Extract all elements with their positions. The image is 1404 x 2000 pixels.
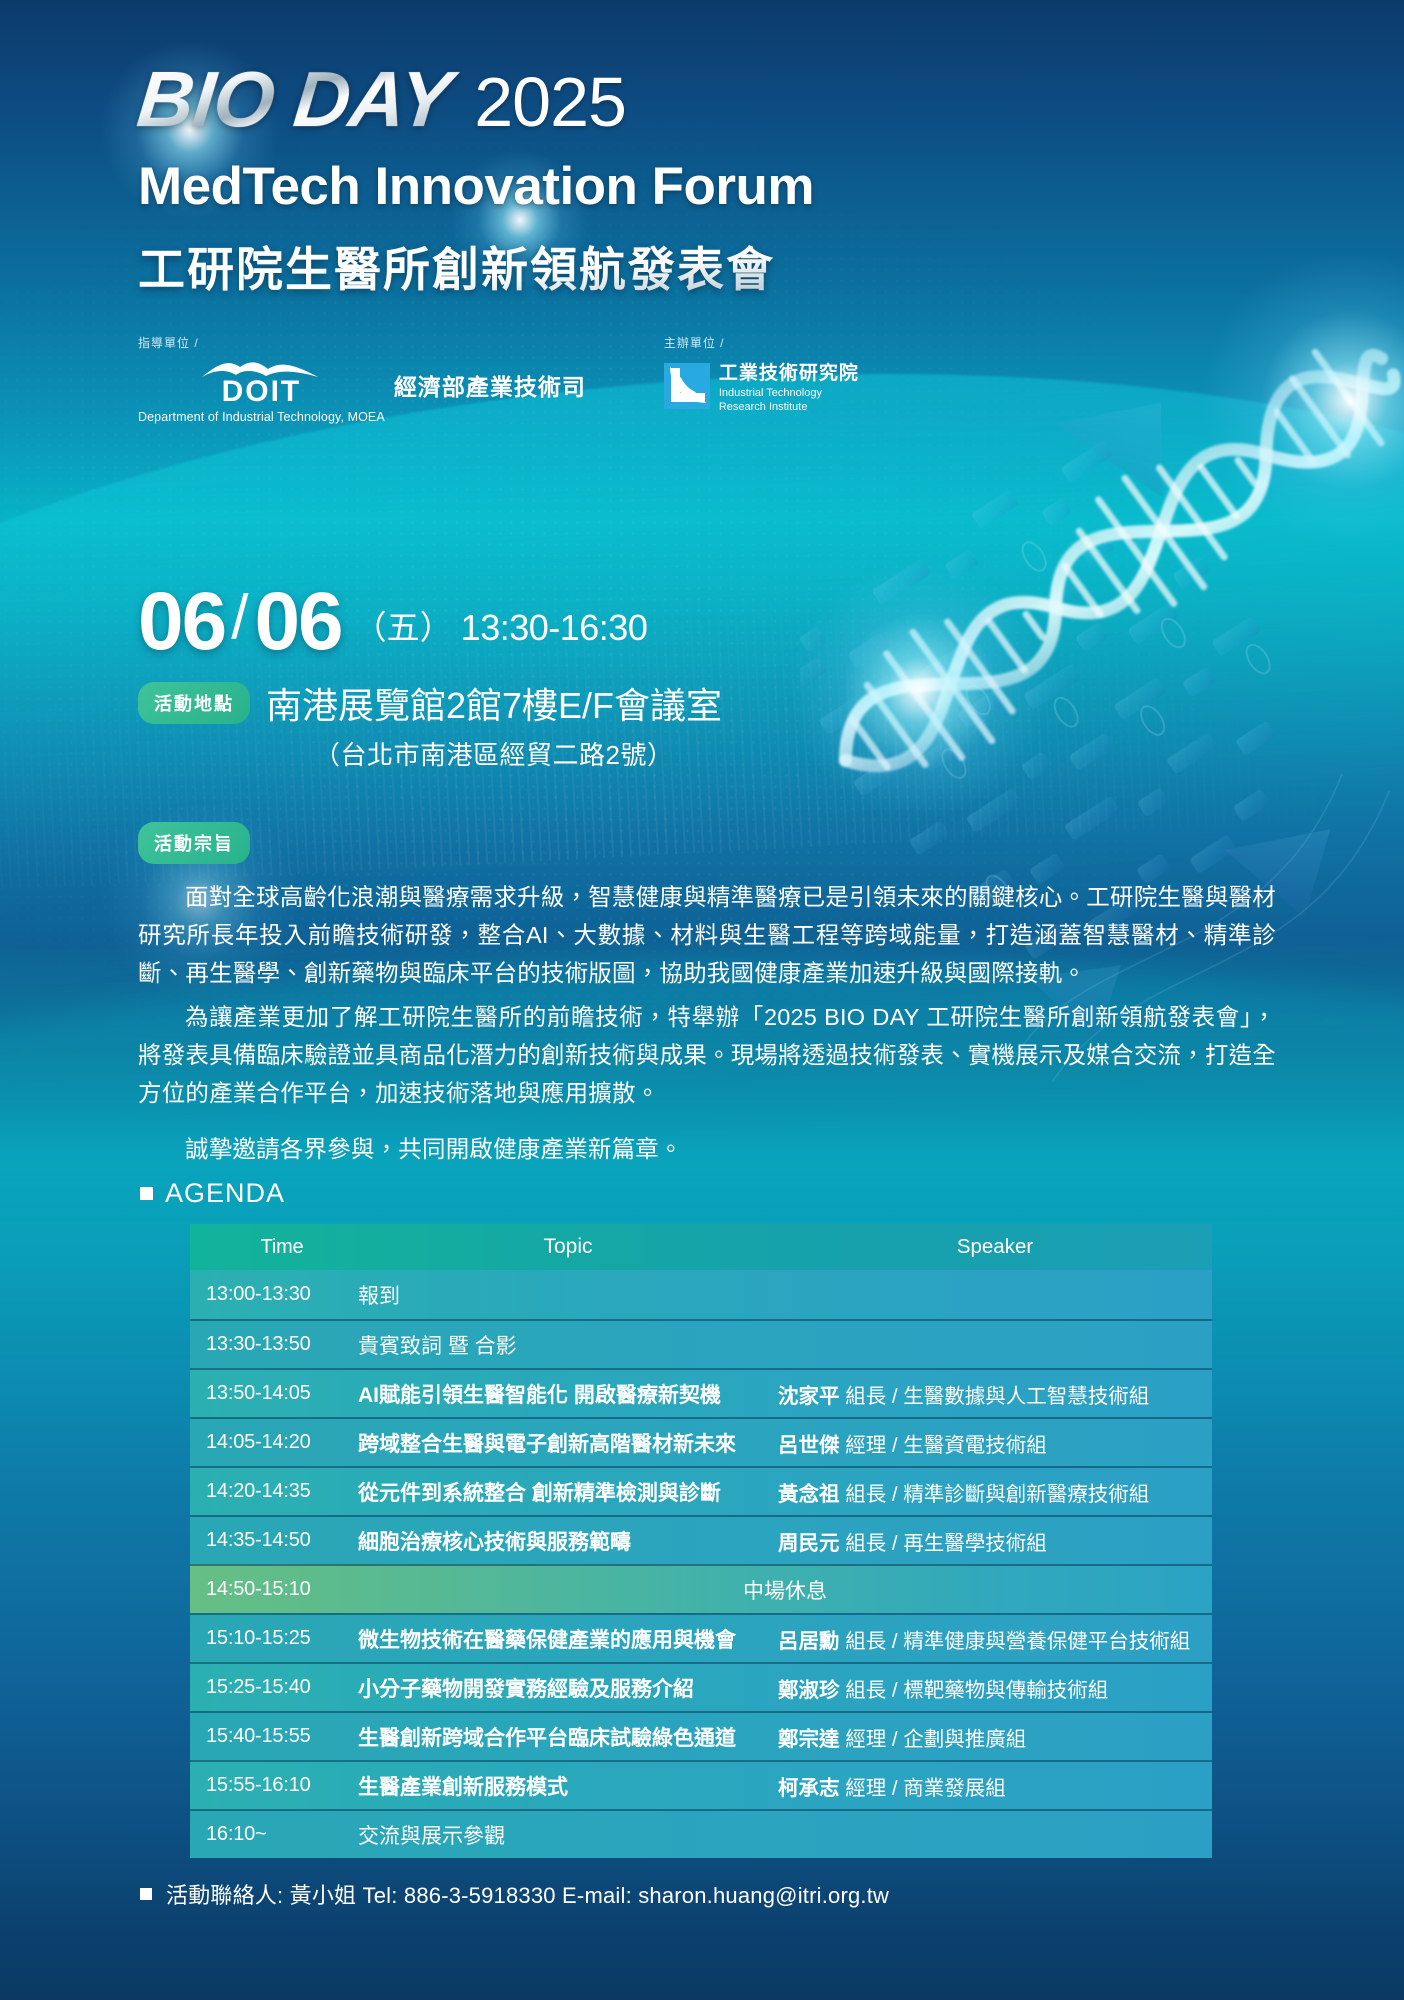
speaker-role: 經理 / 企劃與推廣組 [845,1728,1026,1751]
agenda-cell-topic: AI賦能引領生醫智能化 開啟醫療新契機 [358,1379,778,1409]
purpose-badge: 活動宗旨 [138,822,250,864]
purpose-paragraph-3: 誠摯邀請各界參與，共同開啟健康產業新篇章。 [138,1130,1276,1168]
itri-name-zh: 工業技術研究院 [719,358,859,385]
forum-title-en: MedTech Innovation Forum [138,156,1404,217]
speaker-role: 組長 / 標靶藥物與傳輸技術組 [845,1679,1108,1702]
agenda-cell-time: 15:25-15:40 [190,1676,358,1699]
column-header-speaker: Speaker [778,1235,1212,1259]
speaker-name: 呂世傑 [778,1434,845,1457]
guidance-unit-block: 指導單位 / DOIT Department of Industrial Tec… [138,334,586,424]
agenda-cell-speaker: 鄭淑珍 組長 / 標靶藥物與傳輸技術組 [778,1673,1212,1703]
agenda-table-header: Time Topic Speaker [190,1224,1212,1270]
speaker-role: 組長 / 生醫數據與人工智慧技術組 [845,1385,1149,1408]
contact-text: 活動聯絡人: 黃小姐 Tel: 886-3-5918330 E-mail: sh… [166,1878,889,1910]
agenda-table-body: 13:00-13:30報到13:30-13:50貴賓致詞 暨 合影13:50-1… [190,1270,1212,1858]
speaker-role: 經理 / 生醫資電技術組 [845,1434,1047,1457]
agenda-row: 15:10-15:25微生物技術在醫藥保健產業的應用與機會呂居勳 組長 / 精準… [190,1613,1212,1662]
agenda-cell-topic: 生醫產業創新服務模式 [358,1771,778,1801]
guidance-unit-caption: 指導單位 / [138,334,586,351]
agenda-cell-time: 14:35-14:50 [190,1529,358,1552]
event-date-row: 06 / 06 （五） 13:30-16:30 [138,582,1284,659]
agenda-cell-speaker: 黃念祖 組長 / 精準診斷與創新醫療技術組 [778,1477,1212,1507]
agenda-row: 16:10~交流與展示參觀 [190,1809,1212,1858]
agenda-cell-topic: 微生物技術在醫藥保健產業的應用與機會 [358,1624,778,1654]
agenda-cell-time: 16:10~ [190,1823,358,1846]
event-day: 06 [254,584,341,659]
brand-title-row: BIO DAY 2025 [138,60,1404,138]
agenda-row: 14:05-14:20跨域整合生醫與電子創新高階醫材新未來呂世傑 經理 / 生醫… [190,1417,1212,1466]
event-datetime-block: 06 / 06 （五） 13:30-16:30 活動地點 南港展覽館2館7樓E/… [138,582,1284,772]
agenda-row: 14:35-14:50細胞治療核心技術與服務範疇周民元 組長 / 再生醫學技術組 [190,1515,1212,1564]
column-header-time: Time [190,1236,358,1259]
agenda-cell-topic: 貴賓致詞 暨 合影 [358,1330,778,1360]
agenda-row: 13:30-13:50貴賓致詞 暨 合影 [190,1319,1212,1368]
doit-logo-icon: DOIT Department of Industrial Technology… [138,358,385,424]
speaker-name: 周民元 [778,1532,845,1555]
square-bullet-icon [140,1187,153,1200]
agenda-cell-time: 13:50-14:05 [190,1382,358,1405]
agenda-table: Time Topic Speaker 13:00-13:30報到13:30-13… [190,1224,1212,1858]
doit-wordmark: DOIT [222,378,302,407]
purpose-section: 活動宗旨 面對全球高齡化浪潮與醫療需求升級，智慧健康與精準醫療已是引領未來的關鍵… [138,822,1276,1174]
speaker-role: 組長 / 精準健康與營養保健平台技術組 [845,1630,1190,1653]
agenda-cell-topic: 中場休息 [358,1575,1212,1605]
speaker-role: 組長 / 精準診斷與創新醫療技術組 [845,1483,1149,1506]
agenda-cell-speaker: 柯承志 經理 / 商業發展組 [778,1771,1212,1801]
agenda-row: 15:55-16:10生醫產業創新服務模式柯承志 經理 / 商業發展組 [190,1760,1212,1809]
agenda-cell-time: 14:50-15:10 [190,1578,358,1601]
square-bullet-icon [140,1888,152,1900]
purpose-paragraph-2: 為讓產業更加了解工研院生醫所的前瞻技術，特舉辦「2025 BIO DAY 工研院… [138,998,1276,1112]
speaker-name: 鄭淑珍 [778,1679,845,1702]
agenda-cell-time: 15:55-16:10 [190,1774,358,1797]
poster-header: BIO DAY 2025 MedTech Innovation Forum 工研… [0,0,1404,424]
speaker-name: 黃念祖 [778,1483,845,1506]
agenda-cell-speaker: 鄭宗達 經理 / 企劃與推廣組 [778,1722,1212,1752]
venue-badge: 活動地點 [138,682,250,724]
agenda-cell-time: 15:10-15:25 [190,1627,358,1650]
host-unit-caption: 主辦單位 / [664,334,859,351]
agenda-cell-time: 14:05-14:20 [190,1431,358,1454]
date-separator: / [231,582,248,653]
agenda-cell-topic: 從元件到系統整合 創新精準檢測與診斷 [358,1477,778,1507]
itri-name-en-line2: Research Institute [719,401,859,415]
agenda-row: 14:50-15:10中場休息 [190,1564,1212,1613]
agenda-cell-time: 13:30-13:50 [190,1333,358,1356]
agenda-cell-topic: 細胞治療核心技術與服務範疇 [358,1526,778,1556]
speaker-name: 沈家平 [778,1385,845,1408]
speaker-name: 呂居勳 [778,1630,845,1653]
venue-name: 南港展覽館2館7樓E/F會議室 [266,677,722,729]
column-header-topic: Topic [358,1235,778,1259]
agenda-row: 14:20-14:35從元件到系統整合 創新精準檢測與診斷黃念祖 組長 / 精準… [190,1466,1212,1515]
event-month: 06 [138,584,225,659]
contact-line: 活動聯絡人: 黃小姐 Tel: 886-3-5918330 E-mail: sh… [140,1878,889,1910]
agenda-row: 13:00-13:30報到 [190,1270,1212,1319]
agenda-cell-topic: 跨域整合生醫與電子創新高階醫材新未來 [358,1428,778,1458]
agenda-row: 13:50-14:05AI賦能引領生醫智能化 開啟醫療新契機沈家平 組長 / 生… [190,1368,1212,1417]
event-time: 13:30-16:30 [461,607,648,649]
itri-wave-logo-icon [664,363,710,409]
agenda-cell-speaker: 呂居勳 組長 / 精準健康與營養保健平台技術組 [778,1624,1212,1654]
speaker-role: 組長 / 再生醫學技術組 [845,1532,1047,1555]
agenda-cell-time: 13:00-13:30 [190,1283,358,1306]
event-weekday: （五） [354,601,453,649]
agenda-row: 15:40-15:55生醫創新跨域合作平台臨床試驗綠色通道鄭宗達 經理 / 企劃… [190,1711,1212,1760]
host-unit-block: 主辦單位 / 工業技術研究院 Industrial Technology Res… [664,334,859,415]
doit-name-zh: 經濟部產業技術司 [394,368,586,402]
brand-logotype: BIO DAY [134,60,462,138]
speaker-name: 柯承志 [778,1777,845,1800]
speaker-role: 經理 / 商業發展組 [845,1777,1006,1800]
agenda-cell-topic: 生醫創新跨域合作平台臨床試驗綠色通道 [358,1722,778,1752]
organizer-logos: 指導單位 / DOIT Department of Industrial Tec… [138,334,1404,424]
speaker-name: 鄭宗達 [778,1728,845,1751]
agenda-cell-speaker: 呂世傑 經理 / 生醫資電技術組 [778,1428,1212,1458]
venue-address: （台北市南港區經貿二路2號） [314,735,1284,772]
doit-subtitle-en: Department of Industrial Technology, MOE… [138,410,385,424]
brand-year: 2025 [474,67,626,137]
agenda-cell-topic: 交流與展示參觀 [358,1820,778,1850]
itri-name-en-line1: Industrial Technology [719,387,859,401]
agenda-heading-label: AGENDA [165,1178,285,1209]
forum-title-zh: 工研院生醫所創新領航發表會 [138,231,1404,300]
agenda-heading: AGENDA [140,1178,285,1209]
agenda-cell-speaker: 沈家平 組長 / 生醫數據與人工智慧技術組 [778,1379,1212,1409]
agenda-row: 15:25-15:40小分子藥物開發實務經驗及服務介紹鄭淑珍 組長 / 標靶藥物… [190,1662,1212,1711]
agenda-cell-speaker: 周民元 組長 / 再生醫學技術組 [778,1526,1212,1556]
poster-root: BIO DAY 2025 MedTech Innovation Forum 工研… [0,0,1404,2000]
agenda-cell-topic: 報到 [358,1280,778,1310]
venue-row: 活動地點 南港展覽館2館7樓E/F會議室 [138,677,1284,729]
agenda-cell-time: 14:20-14:35 [190,1480,358,1503]
agenda-cell-time: 15:40-15:55 [190,1725,358,1748]
agenda-cell-topic: 小分子藥物開發實務經驗及服務介紹 [358,1673,778,1703]
purpose-paragraph-1: 面對全球高齡化浪潮與醫療需求升級，智慧健康與精準醫療已是引領未來的關鍵核心。工研… [138,878,1276,992]
